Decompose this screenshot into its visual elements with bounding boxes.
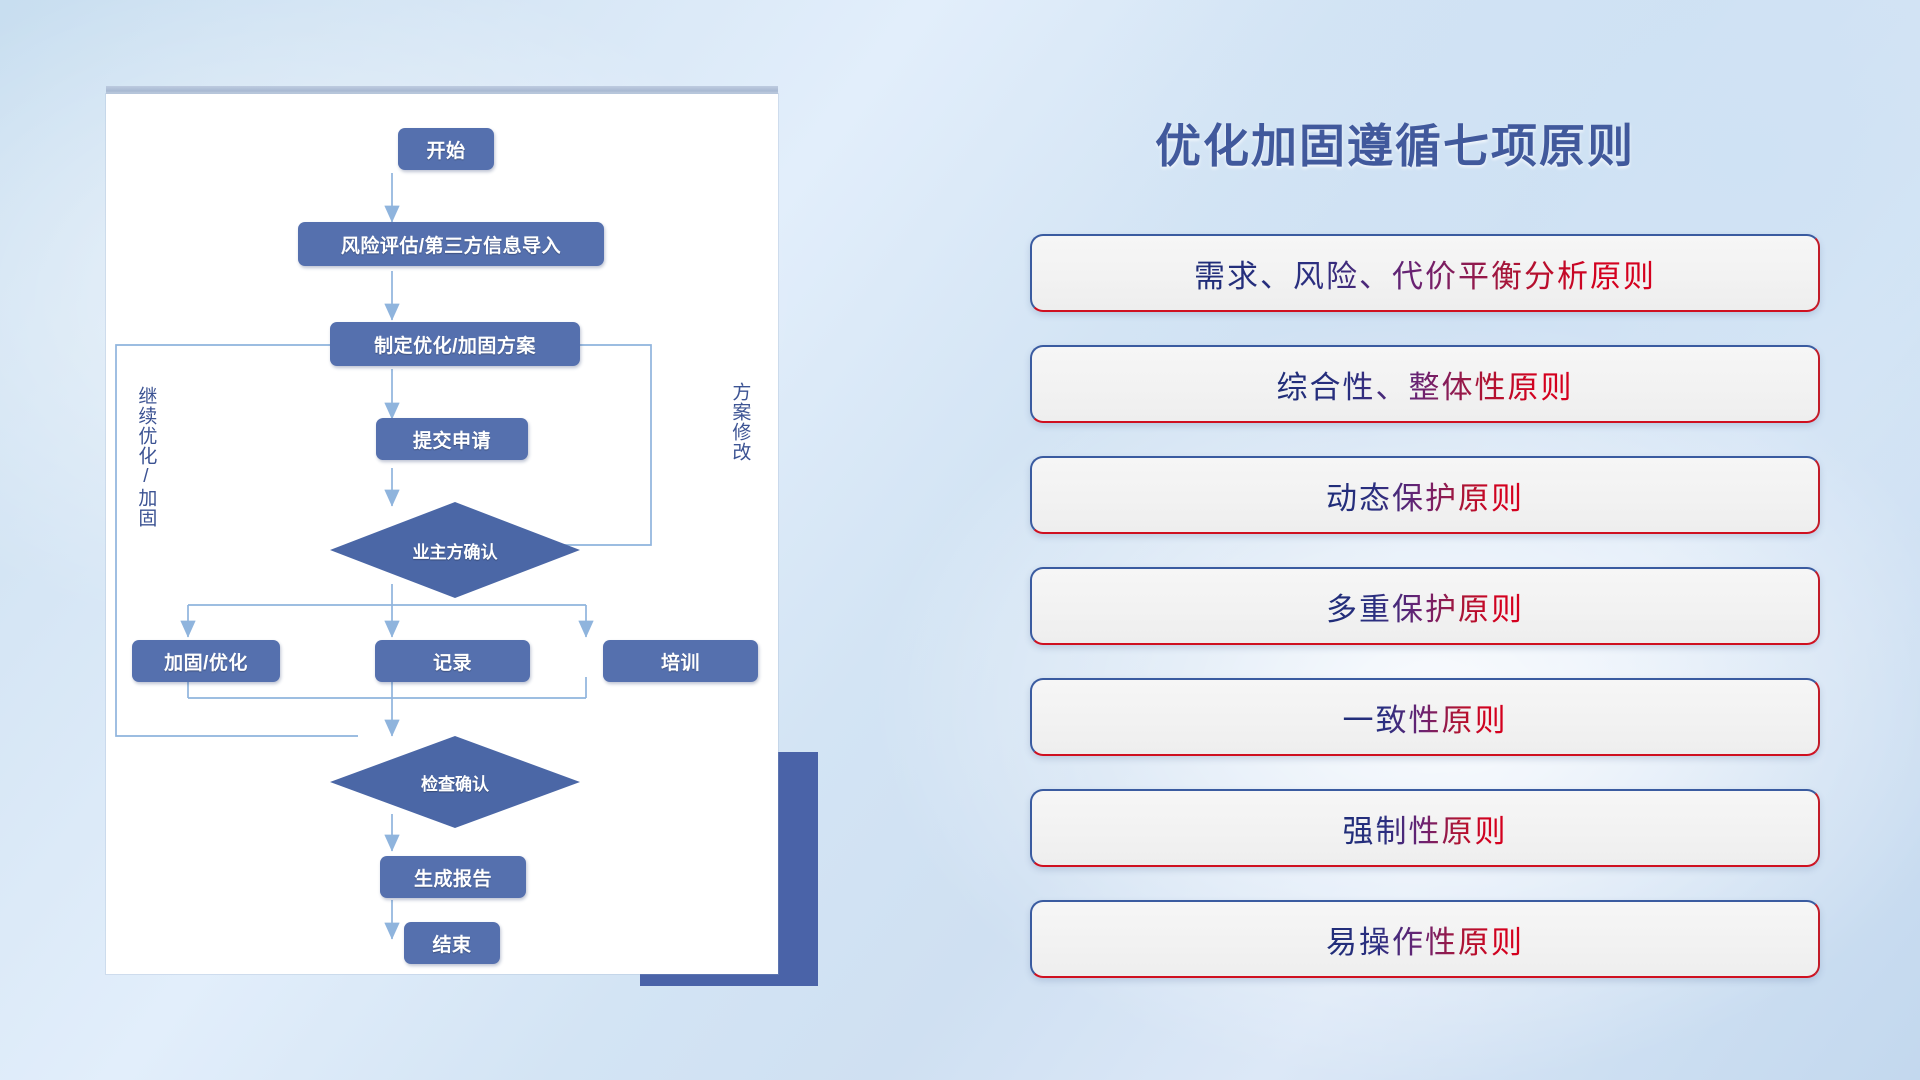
principle-label: 强制性原则: [1343, 806, 1508, 851]
flow-node-label: 结束: [432, 930, 471, 957]
flow-node-risk-assessment[interactable]: 风险评估/第三方信息导入: [298, 222, 604, 266]
flow-node-label: 生成报告: [414, 864, 492, 891]
flow-node-end[interactable]: 结束: [404, 922, 500, 964]
flow-node-label: 提交申请: [413, 426, 491, 453]
flow-node-label: 检查确认: [421, 770, 489, 795]
flow-node-label: 开始: [426, 136, 465, 163]
flow-node-label: 业主方确认: [413, 538, 498, 563]
flow-node-reinforce-optimize[interactable]: 加固/优化: [132, 640, 280, 682]
principle-card[interactable]: 易操作性原则: [1030, 900, 1820, 978]
principle-label: 一致性原则: [1343, 695, 1508, 740]
principle-card[interactable]: 多重保护原则: [1030, 567, 1820, 645]
flow-node-submit-application[interactable]: 提交申请: [376, 418, 528, 460]
principle-label: 多重保护原则: [1326, 584, 1524, 629]
principle-card[interactable]: 一致性原则: [1030, 678, 1820, 756]
principle-card[interactable]: 需求、风险、代价平衡分析原则: [1030, 234, 1820, 312]
flow-edge-label-continue-optimize: 继续优化/加固: [136, 386, 155, 528]
principle-card[interactable]: 强制性原则: [1030, 789, 1820, 867]
flow-node-training[interactable]: 培训: [603, 640, 758, 682]
principle-label: 易操作性原则: [1326, 917, 1524, 962]
flow-node-label: 风险评估/第三方信息导入: [341, 231, 561, 258]
principle-card[interactable]: 综合性、整体性原则: [1030, 345, 1820, 423]
panel-title: 优化加固遵循七项原则: [1155, 110, 1635, 176]
flow-node-label: 培训: [661, 648, 700, 675]
flow-node-label: 记录: [433, 648, 472, 675]
principle-label: 动态保护原则: [1326, 473, 1524, 518]
flow-node-label: 制定优化/加固方案: [374, 331, 536, 358]
flow-edge-label-plan-revision: 方案修改: [730, 382, 749, 462]
flow-node-generate-report[interactable]: 生成报告: [380, 856, 526, 898]
principles-panel: 优化加固遵循七项原则 需求、风险、代价平衡分析原则 综合性、整体性原则 动态保护…: [1000, 0, 1920, 1080]
flow-node-record[interactable]: 记录: [375, 640, 530, 682]
flow-node-plan[interactable]: 制定优化/加固方案: [330, 322, 580, 366]
principle-label: 综合性、整体性原则: [1277, 362, 1574, 407]
flow-node-label: 加固/优化: [164, 648, 248, 675]
flowchart-panel: 开始 风险评估/第三方信息导入 制定优化/加固方案 提交申请 业主方确认 加固/…: [0, 0, 940, 1080]
principle-label: 需求、风险、代价平衡分析原则: [1194, 251, 1656, 296]
flow-node-start[interactable]: 开始: [398, 128, 494, 170]
principle-card[interactable]: 动态保护原则: [1030, 456, 1820, 534]
